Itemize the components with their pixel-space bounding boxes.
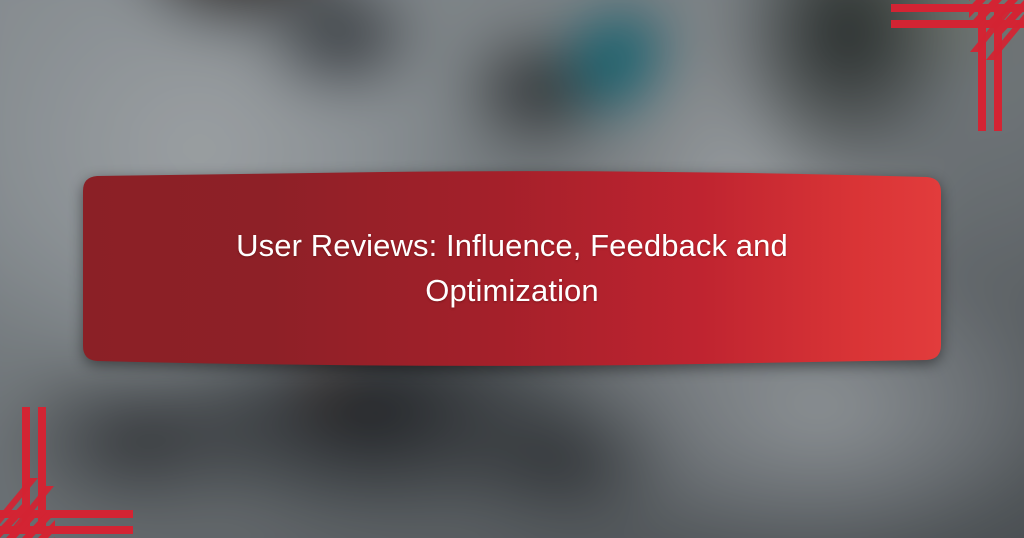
corner-ornament-top-right — [874, 0, 1024, 148]
banner-text-container: User Reviews: Influence, Feedback and Op… — [83, 171, 941, 366]
title-banner: User Reviews: Influence, Feedback and Op… — [83, 171, 941, 366]
corner-ornament-bottom-left — [0, 390, 150, 538]
page-title: User Reviews: Influence, Feedback and Op… — [192, 224, 832, 312]
featured-image-canvas: User Reviews: Influence, Feedback and Op… — [0, 0, 1024, 538]
